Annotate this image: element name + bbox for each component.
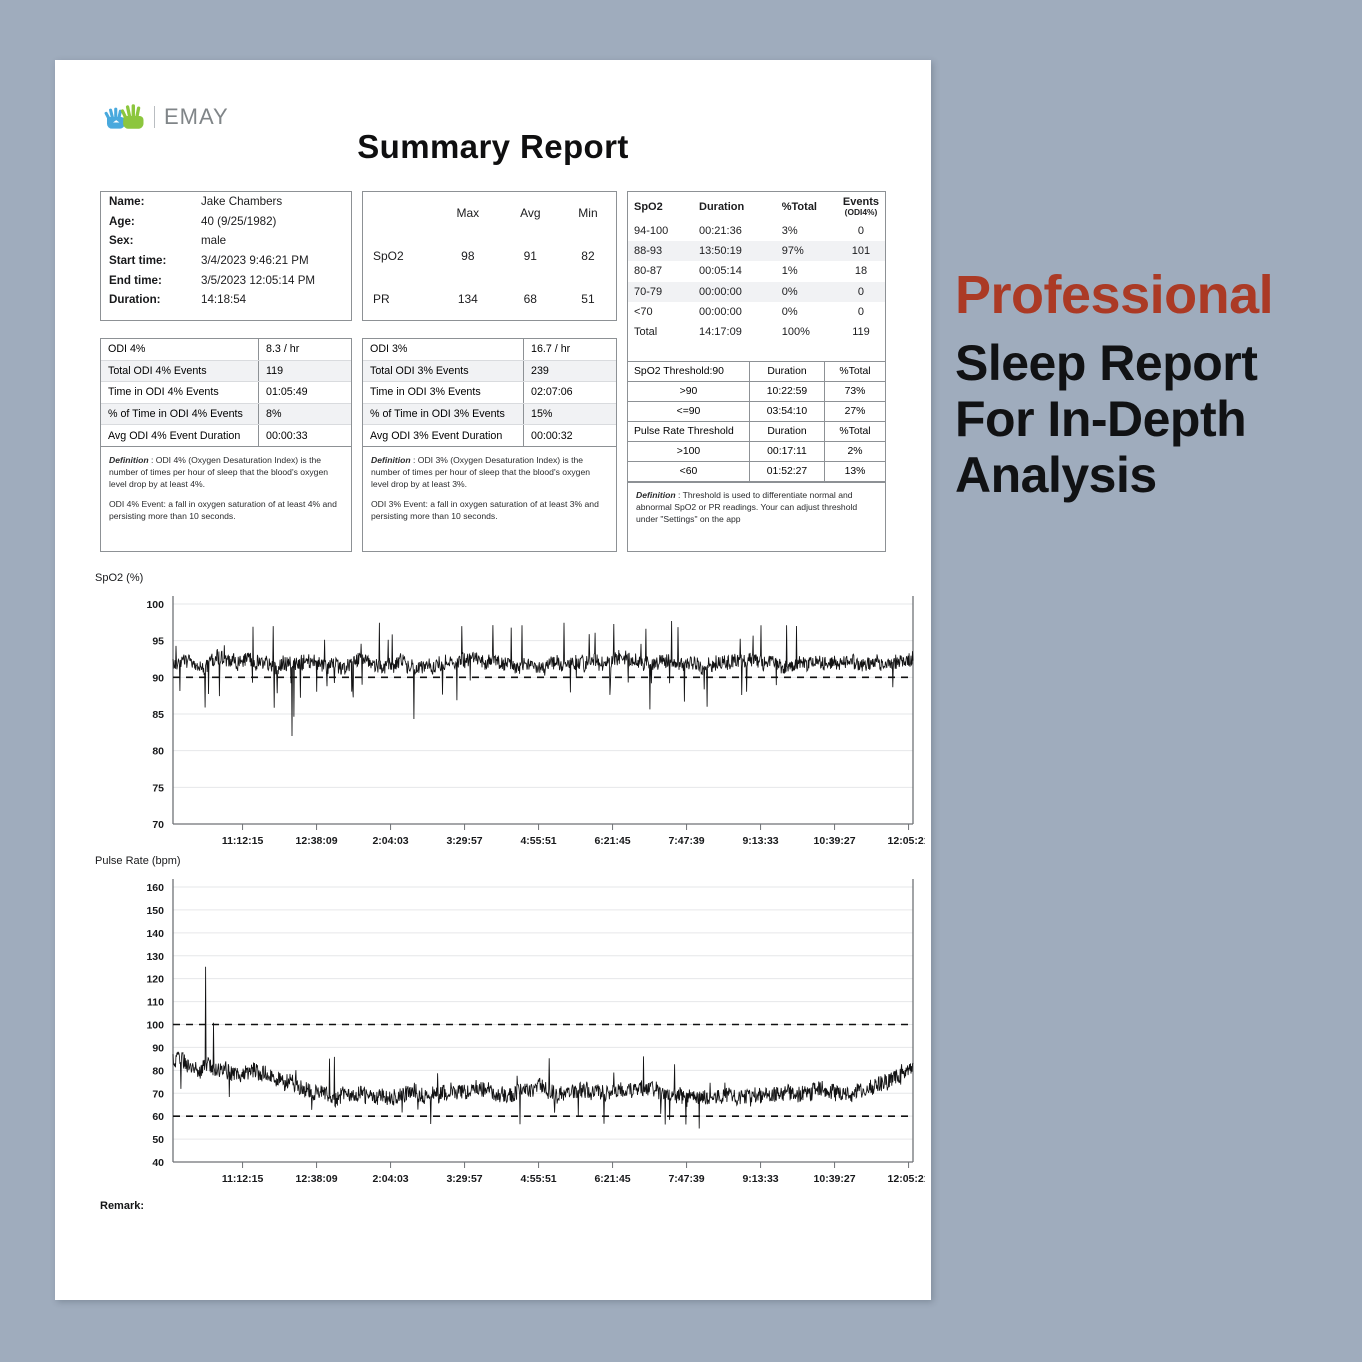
odi4-row: Total ODI 4% Events119: [101, 360, 351, 382]
odi3-value: 239: [524, 360, 617, 382]
svg-text:3:29:57: 3:29:57: [446, 1173, 482, 1185]
spo2-distribution-table: SpO2Duration%TotalEvents(ODI4%)94-10000:…: [627, 191, 886, 381]
patient-field-value: male: [193, 231, 351, 251]
patient-field-value: 40 (9/25/1982): [193, 212, 351, 232]
patient-row: Age:40 (9/25/1982): [101, 212, 351, 232]
odi4-row: % of Time in ODI 4% Events8%: [101, 403, 351, 425]
svg-text:3:29:57: 3:29:57: [446, 835, 482, 847]
spo2-distribution-row: 94-10000:21:363%0: [628, 221, 885, 241]
dist-header-events: Events(ODI4%): [837, 192, 885, 221]
spo2-distribution-header: SpO2Duration%TotalEvents(ODI4%): [628, 192, 885, 221]
summary-stats-label: PR: [363, 277, 435, 320]
promo-line-4: Analysis: [955, 447, 1350, 503]
summary-stats-max: 98: [435, 235, 501, 278]
odi3-definition: Definition : ODI 3% (Oxygen Desaturation…: [363, 447, 616, 522]
report-page: EMAY Summary Report Name:Jake ChambersAg…: [55, 60, 931, 1300]
spo2-plot: 70758085909510011:12:1512:38:092:04:033:…: [95, 586, 925, 856]
svg-text:100: 100: [146, 599, 164, 611]
odi4-event-text: ODI 4% Event: a fall in oxygen saturatio…: [109, 498, 343, 522]
svg-text:6:21:45: 6:21:45: [594, 1173, 630, 1185]
threshold-pr-title: Pulse Rate Threshold: [628, 422, 750, 442]
odi4-definition: Definition : ODI 4% (Oxygen Desaturation…: [101, 447, 351, 522]
patient-row: Start time:3/4/2023 9:46:21 PM: [101, 251, 351, 271]
patient-field-label: Sex:: [101, 231, 193, 251]
patient-field-value: 14:18:54: [193, 290, 351, 310]
odi4-label: % of Time in ODI 4% Events: [101, 403, 259, 425]
odi4-value: 00:00:33: [259, 425, 352, 447]
odi3-label: Avg ODI 3% Event Duration: [363, 425, 524, 447]
odi3-value: 02:07:06: [524, 382, 617, 404]
threshold-pr-cond: >100: [628, 442, 750, 462]
summary-stats-min: 82: [560, 235, 616, 278]
pulse-rate-plot: 40506070809010011012013014015016011:12:1…: [95, 869, 925, 1194]
odi4-value: 8%: [259, 403, 352, 425]
odi4-label: Time in ODI 4% Events: [101, 382, 259, 404]
threshold-row: <=9003:54:1027%: [628, 402, 885, 422]
threshold-table: SpO2 Threshold:90Duration%Total>9010:22:…: [627, 361, 886, 552]
dist-duration: 00:00:00: [693, 302, 776, 322]
svg-text:80: 80: [152, 1065, 164, 1077]
pulse-rate-chart: Pulse Rate (bpm) 40506070809010011012013…: [95, 855, 925, 1194]
patient-field-label: Duration:: [101, 290, 193, 310]
odi3-row: Avg ODI 3% Event Duration00:00:32: [363, 425, 616, 447]
promo-line-professional: Professional: [955, 268, 1350, 323]
summary-stats-header-cell: Avg: [501, 192, 560, 235]
threshold-spo2-duration: 03:54:10: [750, 402, 825, 422]
svg-text:2:04:03: 2:04:03: [372, 835, 408, 847]
dist-events: 101: [837, 241, 885, 261]
odi4-value: 119: [259, 360, 352, 382]
svg-text:60: 60: [152, 1111, 164, 1123]
dist-duration: 13:50:19: [693, 241, 776, 261]
svg-text:90: 90: [152, 1042, 164, 1054]
svg-text:7:47:39: 7:47:39: [668, 1173, 704, 1185]
patient-row: Sex:male: [101, 231, 351, 251]
threshold-spo2-pct: 73%: [825, 382, 886, 402]
odi3-label: Total ODI 3% Events: [363, 360, 524, 382]
odi4-value: 01:05:49: [259, 382, 352, 404]
promo-line-2: Sleep Report: [955, 335, 1350, 391]
dist-events: 0: [837, 221, 885, 241]
spo2-distribution-row: 80-8700:05:141%18: [628, 261, 885, 281]
dist-header-duration: Duration: [693, 192, 776, 221]
svg-text:110: 110: [147, 997, 164, 1009]
dist-pct: 100%: [776, 322, 837, 342]
svg-text:70: 70: [152, 1088, 164, 1100]
odi3-row: Total ODI 3% Events239: [363, 360, 616, 382]
odi3-definition-label: Definition: [371, 455, 411, 465]
svg-text:40: 40: [152, 1157, 164, 1169]
patient-field-label: End time:: [101, 270, 193, 290]
svg-text:120: 120: [146, 974, 164, 986]
svg-text:10:39:27: 10:39:27: [814, 1173, 856, 1185]
summary-stats-header-cell: Max: [435, 192, 501, 235]
svg-text:9:13:33: 9:13:33: [742, 835, 778, 847]
summary-stats-label: SpO2: [363, 235, 435, 278]
svg-text:4:55:51: 4:55:51: [520, 835, 556, 847]
svg-text:12:05:21: 12:05:21: [888, 835, 925, 847]
patient-row: Name:Jake Chambers: [101, 192, 351, 212]
threshold-spo2-title: SpO2 Threshold:90: [628, 362, 750, 382]
dist-range: 94-100: [628, 221, 693, 241]
dist-events: 0: [837, 302, 885, 322]
svg-text:140: 140: [146, 928, 164, 940]
dist-pct: 1%: [776, 261, 837, 281]
svg-text:7:47:39: 7:47:39: [668, 835, 704, 847]
odi4-table: ODI 4%8.3 / hrTotal ODI 4% Events119Time…: [100, 338, 352, 552]
summary-stats-min: 51: [560, 277, 616, 320]
patient-field-label: Start time:: [101, 251, 193, 271]
threshold-row: <6001:52:2713%: [628, 462, 885, 482]
dist-range: 70-79: [628, 282, 693, 302]
threshold-spo2-pct: 27%: [825, 402, 886, 422]
svg-text:90: 90: [152, 672, 164, 684]
svg-text:6:21:45: 6:21:45: [594, 835, 630, 847]
odi3-value: 15%: [524, 403, 617, 425]
dist-events: 18: [837, 261, 885, 281]
svg-text:11:12:15: 11:12:15: [222, 1173, 264, 1185]
dist-events: 0: [837, 282, 885, 302]
svg-text:12:38:09: 12:38:09: [296, 835, 338, 847]
dist-duration: 00:21:36: [693, 221, 776, 241]
promo-panel: Professional Sleep Report For In-Depth A…: [955, 268, 1350, 503]
summary-stats-avg: 91: [501, 235, 560, 278]
page-title: Summary Report: [55, 128, 931, 166]
odi4-row: Avg ODI 4% Event Duration00:00:33: [101, 425, 351, 447]
dist-pct: 0%: [776, 282, 837, 302]
dist-header-pct: %Total: [776, 192, 837, 221]
odi4-label: ODI 4%: [101, 339, 259, 360]
odi3-label: ODI 3%: [363, 339, 524, 360]
patient-field-value: 3/4/2023 9:46:21 PM: [193, 251, 351, 271]
pulse-chart-title: Pulse Rate (bpm): [95, 855, 925, 867]
svg-text:85: 85: [152, 709, 164, 721]
threshold-pct-header: %Total: [825, 422, 886, 442]
threshold-definition-label: Definition: [636, 490, 676, 500]
svg-text:80: 80: [152, 746, 164, 758]
threshold-spo2-cond: >90: [628, 382, 750, 402]
svg-text:150: 150: [146, 905, 164, 917]
svg-text:2:04:03: 2:04:03: [372, 1173, 408, 1185]
dist-header-events-sub: (ODI4%): [843, 208, 879, 217]
odi3-table: ODI 3%16.7 / hrTotal ODI 3% Events239Tim…: [362, 338, 617, 552]
svg-text:95: 95: [152, 636, 164, 648]
summary-stats-avg: 68: [501, 277, 560, 320]
promo-headline: Sleep Report For In-Depth Analysis: [955, 335, 1350, 503]
threshold-pr-pct: 2%: [825, 442, 886, 462]
summary-stats-table: MaxAvgMinSpO2989182PR1346851: [362, 191, 617, 321]
summary-stats-row: SpO2989182: [363, 235, 616, 278]
spo2-chart-title: SpO2 (%): [95, 572, 925, 584]
summary-stats-header-cell: [363, 192, 435, 235]
patient-field-label: Age:: [101, 212, 193, 232]
patient-info-table: Name:Jake ChambersAge:40 (9/25/1982)Sex:…: [100, 191, 352, 321]
spo2-distribution-row: 88-9313:50:1997%101: [628, 241, 885, 261]
patient-field-value: 3/5/2023 12:05:14 PM: [193, 270, 351, 290]
remark-label: Remark:: [100, 1200, 144, 1212]
svg-text:9:13:33: 9:13:33: [742, 1173, 778, 1185]
summary-stats-header: MaxAvgMin: [363, 192, 616, 235]
dist-pct: 97%: [776, 241, 837, 261]
threshold-row: Pulse Rate ThresholdDuration%Total: [628, 422, 885, 442]
spo2-distribution-row: 70-7900:00:000%0: [628, 282, 885, 302]
odi4-definition-label: Definition: [109, 455, 149, 465]
threshold-pr-duration: 01:52:27: [750, 462, 825, 482]
spo2-distribution-row: <7000:00:000%0: [628, 302, 885, 322]
svg-text:12:05:21: 12:05:21: [888, 1173, 925, 1185]
threshold-row: >9010:22:5973%: [628, 382, 885, 402]
summary-stats-header-cell: Min: [560, 192, 616, 235]
threshold-pr-cond: <60: [628, 462, 750, 482]
odi3-row: ODI 3%16.7 / hr: [363, 339, 616, 360]
threshold-pr-duration: 00:17:11: [750, 442, 825, 462]
odi4-row: ODI 4%8.3 / hr: [101, 339, 351, 360]
svg-text:160: 160: [146, 882, 164, 894]
threshold-pct-header: %Total: [825, 362, 886, 382]
odi4-row: Time in ODI 4% Events01:05:49: [101, 382, 351, 404]
threshold-pr-pct: 13%: [825, 462, 886, 482]
threshold-row: SpO2 Threshold:90Duration%Total: [628, 362, 885, 382]
spo2-distribution-row: Total14:17:09100%119: [628, 322, 885, 342]
dist-duration: 00:05:14: [693, 261, 776, 281]
threshold-duration-header: Duration: [750, 422, 825, 442]
odi3-label: Time in ODI 3% Events: [363, 382, 524, 404]
threshold-definition: Definition : Threshold is used to differ…: [628, 482, 885, 526]
spo2-chart: SpO2 (%) 70758085909510011:12:1512:38:09…: [95, 572, 925, 856]
dist-pct: 3%: [776, 221, 837, 241]
threshold-spo2-cond: <=90: [628, 402, 750, 422]
svg-text:70: 70: [152, 819, 164, 831]
dist-range: 80-87: [628, 261, 693, 281]
svg-text:75: 75: [152, 782, 164, 794]
dist-range: 88-93: [628, 241, 693, 261]
svg-text:50: 50: [152, 1134, 164, 1146]
svg-text:11:12:15: 11:12:15: [222, 835, 264, 847]
logo-divider: [154, 106, 155, 128]
svg-text:4:55:51: 4:55:51: [520, 1173, 556, 1185]
dist-pct: 0%: [776, 302, 837, 322]
svg-text:10:39:27: 10:39:27: [814, 835, 856, 847]
odi3-label: % of Time in ODI 3% Events: [363, 403, 524, 425]
odi3-event-text: ODI 3% Event: a fall in oxygen saturatio…: [371, 498, 608, 522]
brand-name: EMAY: [164, 104, 229, 130]
svg-text:130: 130: [146, 951, 164, 963]
summary-stats-row: PR1346851: [363, 277, 616, 320]
patient-row: End time:3/5/2023 12:05:14 PM: [101, 270, 351, 290]
dist-events: 119: [837, 322, 885, 342]
patient-field-label: Name:: [101, 192, 193, 212]
odi3-value: 16.7 / hr: [524, 339, 617, 360]
threshold-spo2-duration: 10:22:59: [750, 382, 825, 402]
svg-text:12:38:09: 12:38:09: [296, 1173, 338, 1185]
dist-duration: 00:00:00: [693, 282, 776, 302]
odi4-label: Avg ODI 4% Event Duration: [101, 425, 259, 447]
patient-row: Duration:14:18:54: [101, 290, 351, 310]
odi3-row: % of Time in ODI 3% Events15%: [363, 403, 616, 425]
summary-stats-max: 134: [435, 277, 501, 320]
dist-header-spo2: SpO2: [628, 192, 693, 221]
odi3-row: Time in ODI 3% Events02:07:06: [363, 382, 616, 404]
threshold-row: >10000:17:112%: [628, 442, 885, 462]
promo-line-3: For In-Depth: [955, 391, 1350, 447]
odi3-value: 00:00:32: [524, 425, 617, 447]
threshold-duration-header: Duration: [750, 362, 825, 382]
patient-field-value: Jake Chambers: [193, 192, 351, 212]
odi4-value: 8.3 / hr: [259, 339, 352, 360]
dist-range: <70: [628, 302, 693, 322]
dist-duration: 14:17:09: [693, 322, 776, 342]
dist-range: Total: [628, 322, 693, 342]
svg-text:100: 100: [146, 1020, 164, 1032]
odi4-label: Total ODI 4% Events: [101, 360, 259, 382]
